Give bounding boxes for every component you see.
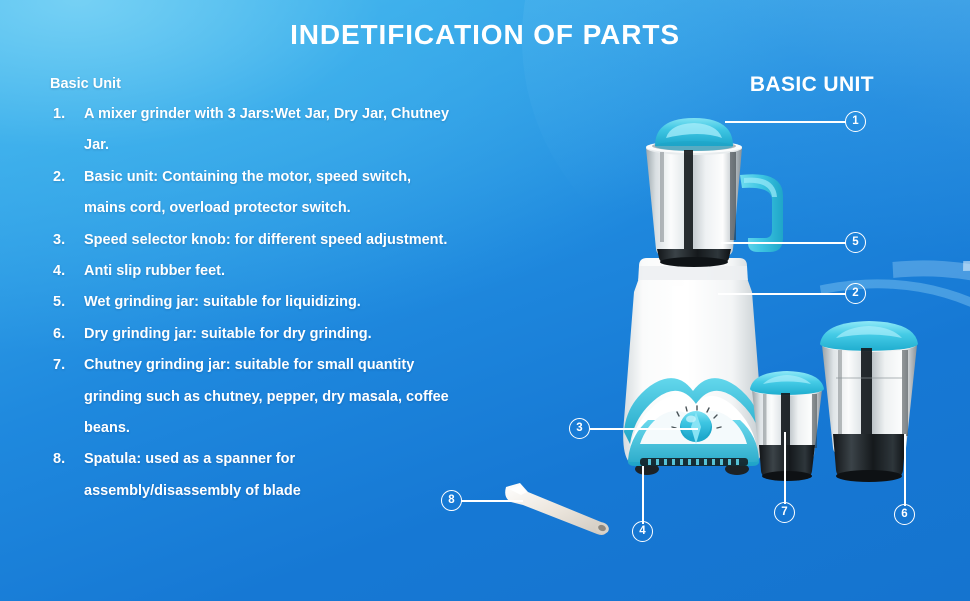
callout-2-leader (718, 293, 846, 295)
callout-5-badge: 5 (845, 232, 866, 253)
callout-6-leader (904, 434, 906, 506)
list-item-text: Basic unit: Containing the motor, speed … (84, 169, 411, 216)
bottom-right-arc-decoration-1 (426, 166, 970, 601)
list-item-text: A mixer grinder with 3 Jars:Wet Jar, Dry… (84, 106, 449, 153)
chutney-grinding-jar-art (750, 371, 824, 481)
callout-3-leader (590, 428, 698, 430)
list-item-number: 8. (53, 444, 65, 475)
list-item-text: Dry grinding jar: suitable for dry grind… (84, 326, 372, 342)
spatula-art (505, 483, 610, 536)
list-item-number: 1. (53, 99, 65, 130)
callout-7-leader (784, 432, 786, 504)
list-item: 5. Wet grinding jar: suitable for liquid… (50, 287, 450, 318)
list-item: 8. Spatula: used as a spanner for assemb… (50, 444, 450, 507)
list-item-text: Chutney grinding jar: suitable for small… (84, 357, 449, 436)
left-panel-heading: Basic Unit (50, 76, 450, 92)
motor-base-unit (623, 258, 763, 475)
callout-6-badge: 6 (894, 504, 915, 525)
callout-1-badge: 1 (845, 111, 866, 132)
top-right-glow-decoration (469, 0, 970, 362)
callout-7-badge: 7 (774, 502, 795, 523)
list-item-number: 3. (53, 225, 65, 256)
page-title: INDETIFICATION OF PARTS (0, 19, 970, 51)
callout-4-leader (642, 466, 644, 524)
list-item-number: 5. (53, 287, 65, 318)
list-item-number: 6. (53, 319, 65, 350)
callout-3-badge: 3 (569, 418, 590, 439)
list-item-text: Spatula: used as a spanner for assembly/… (84, 451, 301, 498)
right-panel-heading: BASIC UNIT (750, 73, 874, 97)
list-item: 1. A mixer grinder with 3 Jars:Wet Jar, … (50, 99, 450, 162)
list-item-text: Speed selector knob: for different speed… (84, 232, 447, 248)
list-item-text: Wet grinding jar: suitable for liquidizi… (84, 294, 361, 310)
list-item-number: 7. (53, 350, 65, 381)
callout-4-badge: 4 (632, 521, 653, 542)
callout-1-leader (725, 121, 846, 123)
bottom-right-arc-decoration-2 (423, 130, 970, 601)
list-item: 3. Speed selector knob: for different sp… (50, 225, 450, 256)
bottom-right-arc-decoration-3 (448, 123, 970, 601)
callout-2-badge: 2 (845, 283, 866, 304)
list-item: 4. Anti slip rubber feet. (50, 256, 450, 287)
list-item: 6. Dry grinding jar: suitable for dry gr… (50, 319, 450, 350)
callout-8-leader (461, 500, 523, 502)
parts-list-panel: Basic Unit 1. A mixer grinder with 3 Jar… (50, 76, 450, 507)
list-item-number: 4. (53, 256, 65, 287)
list-item-number: 2. (53, 162, 65, 193)
list-item-text: Anti slip rubber feet. (84, 263, 225, 279)
list-item: 2. Basic unit: Containing the motor, spe… (50, 162, 450, 225)
callout-5-leader (721, 242, 846, 244)
callout-8-badge: 8 (441, 490, 462, 511)
poster-root: INDETIFICATION OF PARTS Basic Unit 1. A … (0, 0, 970, 601)
list-item: 7. Chutney grinding jar: suitable for sm… (50, 350, 450, 444)
wet-grinding-jar-art (646, 118, 783, 267)
parts-list: 1. A mixer grinder with 3 Jars:Wet Jar, … (50, 99, 450, 507)
